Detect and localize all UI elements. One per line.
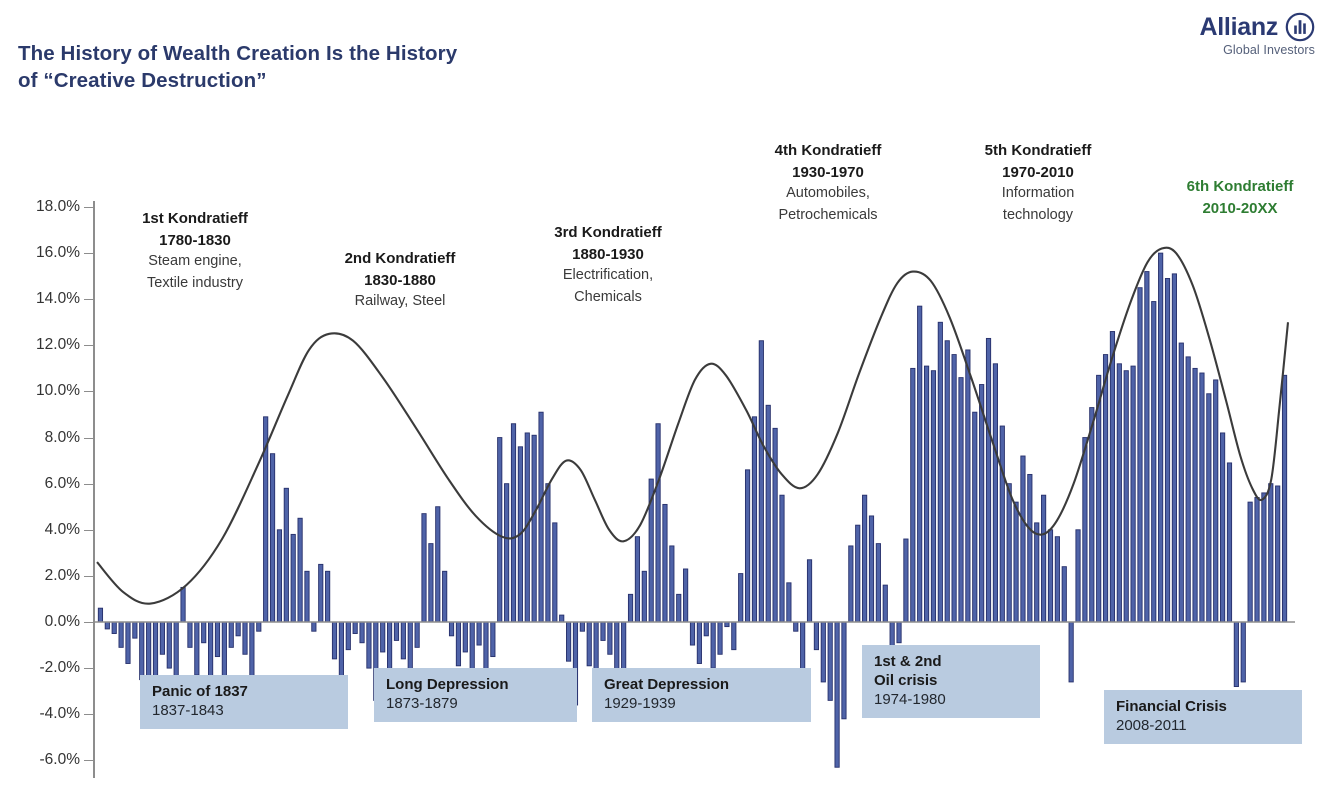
chart-bar <box>1138 288 1142 622</box>
chart-bar <box>394 622 398 640</box>
chart-bar <box>360 622 364 643</box>
chart-bar <box>449 622 453 636</box>
chart-bar <box>656 424 660 622</box>
chart-bar <box>312 622 316 631</box>
chart-bar <box>277 530 281 622</box>
chart-bar <box>160 622 164 654</box>
chart-bar <box>773 428 777 622</box>
chart-bar <box>835 622 839 767</box>
wave-2nd-years: 1830-1880 <box>300 270 500 292</box>
chart-bar <box>904 539 908 622</box>
crisis-title-panic-1837: Panic of 1837 <box>152 682 337 701</box>
chart-bar <box>883 585 887 622</box>
chart-bar <box>1055 537 1059 622</box>
chart-bar <box>677 594 681 622</box>
wave-annotation-5th: 5th Kondratieff 1970-2010 Information te… <box>938 140 1138 226</box>
chart-bar <box>1021 456 1025 622</box>
chart-bar <box>849 546 853 622</box>
chart-bar <box>1014 502 1018 622</box>
crisis-title-oil-crisis-line2: Oil crisis <box>874 671 1029 690</box>
chart-bar <box>250 622 254 682</box>
chart-bar <box>491 622 495 657</box>
chart-bar <box>387 622 391 673</box>
chart-bar <box>1172 274 1176 622</box>
chart-bar <box>973 412 977 622</box>
chart-bar <box>635 537 639 622</box>
chart-bar <box>353 622 357 634</box>
wave-2nd-name: 2nd Kondratieff <box>300 248 500 270</box>
chart-bar <box>759 341 763 622</box>
chart-bar <box>1269 484 1273 622</box>
chart-bar <box>511 424 515 622</box>
wave-annotation-1st: 1st Kondratieff 1780-1830 Steam engine, … <box>95 208 295 294</box>
wave-5th-desc1: Information <box>938 183 1138 205</box>
crisis-years-panic-1837: 1837-1843 <box>152 701 337 721</box>
chart-bar <box>718 622 722 654</box>
chart-bar <box>794 622 798 631</box>
crisis-years-oil-crisis: 1974-1980 <box>874 690 1029 710</box>
chart-bar <box>952 355 956 622</box>
chart-bar <box>140 622 144 680</box>
crisis-title-financial-crisis: Financial Crisis <box>1116 697 1291 716</box>
chart-bar <box>202 622 206 643</box>
wave-4th-years: 1930-1970 <box>718 162 938 184</box>
chart-bar <box>1124 371 1128 622</box>
chart-bar <box>1241 622 1245 682</box>
chart-bar <box>1186 357 1190 622</box>
chart-bar <box>986 338 990 622</box>
chart-bar <box>828 622 832 700</box>
chart-bar <box>931 371 935 622</box>
wave-6th-years: 2010-20XX <box>1160 198 1320 220</box>
chart-bar <box>601 622 605 640</box>
crisis-years-long-depression: 1873-1879 <box>386 694 566 714</box>
chart-bar <box>332 622 336 659</box>
crisis-box-financial-crisis: Financial Crisis 2008-2011 <box>1104 690 1302 744</box>
wave-3rd-desc1: Electrification, <box>508 265 708 287</box>
wave-4th-desc1: Automobiles, <box>718 183 938 205</box>
chart-bar <box>1000 426 1004 622</box>
chart-bar <box>862 495 866 622</box>
chart-bar <box>1041 495 1045 622</box>
chart-bar <box>381 622 385 652</box>
chart-bar <box>945 341 949 622</box>
chart-bar <box>126 622 130 664</box>
chart-bar <box>869 516 873 622</box>
chart-bar <box>1152 302 1156 622</box>
chart-bar <box>924 366 928 622</box>
wave-annotation-3rd: 3rd Kondratieff 1880-1930 Electrificatio… <box>508 222 708 308</box>
chart-bar <box>112 622 116 634</box>
chart-bar <box>897 622 901 643</box>
kondratieff-chart: 18.0%16.0%14.0%12.0%10.0%8.0%6.0%4.0%2.0… <box>0 0 1329 790</box>
chart-bar <box>1207 394 1211 622</box>
wave-4th-name: 4th Kondratieff <box>718 140 938 162</box>
chart-bar <box>422 514 426 622</box>
wave-6th-name: 6th Kondratieff <box>1160 176 1320 198</box>
chart-bar <box>993 364 997 622</box>
chart-bar <box>1214 380 1218 622</box>
chart-bar <box>1282 375 1286 622</box>
chart-bar <box>739 574 743 622</box>
chart-bar <box>305 571 309 622</box>
chart-bar <box>346 622 350 650</box>
chart-bar <box>181 587 185 622</box>
chart-bar <box>257 622 261 631</box>
chart-bar <box>270 454 274 622</box>
chart-bar <box>1220 433 1224 622</box>
chart-bar <box>1159 253 1163 622</box>
wave-1st-years: 1780-1830 <box>95 230 295 252</box>
chart-bar <box>1035 523 1039 622</box>
chart-bar <box>1083 438 1087 622</box>
chart-bar <box>195 622 199 675</box>
chart-bar <box>1103 355 1107 622</box>
chart-bar <box>298 518 302 622</box>
crisis-box-oil-crisis: 1st & 2nd Oil crisis 1974-1980 <box>862 645 1040 718</box>
chart-bar <box>807 560 811 622</box>
chart-bar <box>745 470 749 622</box>
chart-bar <box>1090 408 1094 622</box>
chart-bar <box>938 322 942 622</box>
chart-bar <box>856 525 860 622</box>
chart-bar <box>504 484 508 622</box>
chart-bar <box>697 622 701 664</box>
chart-bar <box>1145 272 1149 622</box>
wave-3rd-name: 3rd Kondratieff <box>508 222 708 244</box>
chart-bar <box>622 622 626 670</box>
chart-bar <box>704 622 708 636</box>
chart-bar <box>539 412 543 622</box>
crisis-title-great-depression: Great Depression <box>604 675 800 694</box>
chart-bar <box>766 405 770 622</box>
chart-bar <box>532 435 536 622</box>
chart-bar <box>787 583 791 622</box>
wave-1st-desc1: Steam engine, <box>95 251 295 273</box>
chart-bar <box>429 544 433 622</box>
chart-bar <box>1255 498 1259 623</box>
chart-bar <box>436 507 440 622</box>
crisis-title-oil-crisis-line1: 1st & 2nd <box>874 652 1029 671</box>
chart-bar <box>119 622 123 647</box>
chart-bar <box>456 622 460 666</box>
crisis-years-financial-crisis: 2008-2011 <box>1116 716 1291 736</box>
chart-bar <box>1200 373 1204 622</box>
chart-bar <box>229 622 233 647</box>
chart-bar <box>911 368 915 622</box>
wave-annotation-6th: 6th Kondratieff 2010-20XX <box>1160 176 1320 219</box>
chart-bar <box>415 622 419 647</box>
chart-bar <box>587 622 591 666</box>
chart-bar <box>498 438 502 622</box>
chart-bar <box>1193 368 1197 622</box>
chart-bar <box>188 622 192 647</box>
chart-bar <box>284 488 288 622</box>
chart-bar <box>814 622 818 650</box>
chart-bar <box>628 594 632 622</box>
chart-bar <box>477 622 481 645</box>
chart-bar <box>560 615 564 622</box>
chart-bar <box>683 569 687 622</box>
chart-bar <box>291 534 295 622</box>
chart-bar <box>1007 484 1011 622</box>
chart-bar <box>1076 530 1080 622</box>
chart-bar <box>842 622 846 719</box>
wave-4th-desc2: Petrochemicals <box>718 205 938 227</box>
chart-bar <box>1069 622 1073 682</box>
chart-bar <box>876 544 880 622</box>
wave-5th-desc2: technology <box>938 205 1138 227</box>
chart-bar <box>167 622 171 668</box>
chart-bar <box>1097 375 1101 622</box>
chart-bar <box>732 622 736 650</box>
chart-bar <box>966 350 970 622</box>
wave-3rd-years: 1880-1930 <box>508 244 708 266</box>
chart-bar <box>325 571 329 622</box>
chart-bar <box>566 622 570 661</box>
chart-bar <box>711 622 715 668</box>
chart-bar <box>918 306 922 622</box>
chart-bar <box>105 622 109 629</box>
chart-bar <box>1248 502 1252 622</box>
chart-bar <box>236 622 240 636</box>
chart-bar <box>1165 278 1169 622</box>
chart-bar <box>1262 493 1266 622</box>
wave-1st-name: 1st Kondratieff <box>95 208 295 230</box>
chart-bar <box>1276 486 1280 622</box>
chart-bar <box>580 622 584 631</box>
chart-bar <box>553 523 557 622</box>
chart-bar <box>243 622 247 654</box>
chart-bar <box>752 417 756 622</box>
crisis-box-panic-1837: Panic of 1837 1837-1843 <box>140 675 348 729</box>
chart-bar <box>1062 567 1066 622</box>
chart-bar <box>980 385 984 622</box>
chart-bar <box>1048 530 1052 622</box>
chart-bar <box>367 622 371 668</box>
wave-1st-desc2: Textile industry <box>95 273 295 295</box>
crisis-box-long-depression: Long Depression 1873-1879 <box>374 668 577 722</box>
chart-bar <box>98 608 102 622</box>
chart-bar <box>1131 366 1135 622</box>
wave-annotation-2nd: 2nd Kondratieff 1830-1880 Railway, Steel <box>300 248 500 313</box>
crisis-box-great-depression: Great Depression 1929-1939 <box>592 668 811 722</box>
chart-bar <box>1028 474 1032 622</box>
chart-bar <box>608 622 612 654</box>
chart-bar <box>642 571 646 622</box>
chart-bar <box>443 571 447 622</box>
crisis-title-long-depression: Long Depression <box>386 675 566 694</box>
chart-bar <box>222 622 226 677</box>
chart-bar <box>133 622 137 638</box>
wave-5th-name: 5th Kondratieff <box>938 140 1138 162</box>
chart-bar <box>215 622 219 657</box>
chart-bar <box>319 564 323 622</box>
chart-bar <box>401 622 405 659</box>
chart-bar <box>1179 343 1183 622</box>
crisis-years-great-depression: 1929-1939 <box>604 694 800 714</box>
wave-annotation-4th: 4th Kondratieff 1930-1970 Automobiles, P… <box>718 140 938 226</box>
chart-bar <box>1110 332 1114 623</box>
chart-bar <box>780 495 784 622</box>
wave-5th-years: 1970-2010 <box>938 162 1138 184</box>
chart-bar <box>1117 364 1121 622</box>
chart-bar <box>1234 622 1238 687</box>
wave-2nd-desc1: Railway, Steel <box>300 291 500 313</box>
chart-bar <box>670 546 674 622</box>
chart-bar <box>821 622 825 682</box>
chart-bar <box>959 378 963 622</box>
chart-bar <box>546 484 550 622</box>
chart-bar <box>690 622 694 645</box>
chart-bar <box>663 504 667 622</box>
chart-bar <box>463 622 467 652</box>
chart-bar <box>1227 463 1231 622</box>
wave-3rd-desc2: Chemicals <box>508 287 708 309</box>
